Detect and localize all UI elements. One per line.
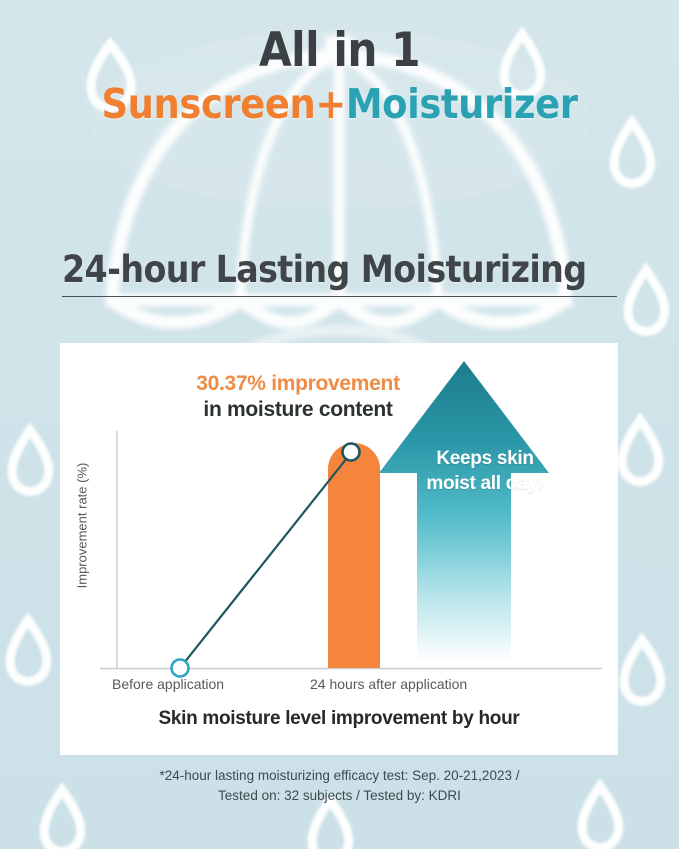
marker-24-hours-after <box>343 444 360 461</box>
footnote-line-1: *24-hour lasting moisturizing efficacy t… <box>0 766 679 786</box>
headline-block: All in 1 Sunscreen+Moisturizer <box>0 26 679 130</box>
arrow-badge-line-1: Keeps skin <box>390 447 580 472</box>
chart-title: Skin moisture level improvement by hour <box>60 708 618 730</box>
subhead-text: 24-hour Lasting Moisturizing <box>62 248 617 291</box>
improvement-callout: 30.37% improvement in moisture content <box>148 371 448 424</box>
chart-card: Keeps skin moist all day! 30.37% improve… <box>60 343 618 755</box>
headline-line-2: Sunscreen+Moisturizer <box>0 79 679 130</box>
headline-sunscreen: Sunscreen <box>101 80 315 128</box>
y-axis-label: Improvement rate (%) <box>75 441 90 611</box>
headline-moisturizer: Moisturizer <box>346 80 578 128</box>
x-tick-before-application: Before application <box>112 676 224 692</box>
x-tick-24-hours-after: 24 hours after application <box>310 676 467 692</box>
arrow-badge-line-2: moist all day! <box>390 472 580 497</box>
bar-24-hours-after <box>328 443 380 668</box>
headline-line-1: All in 1 <box>0 26 679 77</box>
subhead-divider <box>62 296 617 297</box>
marker-before-application <box>172 660 189 677</box>
subhead-block: 24-hour Lasting Moisturizing <box>62 248 617 297</box>
headline-plus: + <box>315 80 346 128</box>
footnote-line-2: Tested on: 32 subjects / Tested by: KDRI <box>0 786 679 806</box>
footnote: *24-hour lasting moisturizing efficacy t… <box>0 766 679 805</box>
improvement-callout-sub: in moisture content <box>148 397 448 423</box>
arrow-badge-text: Keeps skin moist all day! <box>390 447 580 496</box>
trend-line <box>180 453 351 668</box>
improvement-callout-value: 30.37% improvement <box>148 371 448 397</box>
